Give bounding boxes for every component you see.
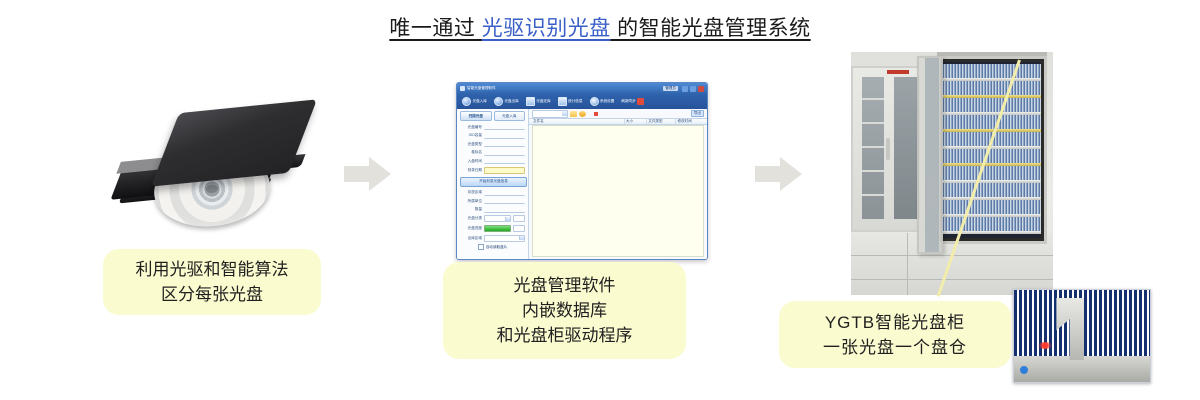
disc-shelf-row xyxy=(943,217,1041,231)
window-controls[interactable] xyxy=(682,86,704,92)
floor-line xyxy=(907,233,908,295)
cabinet-handle xyxy=(886,138,890,160)
field-row-area: 存放区域 xyxy=(460,190,525,196)
app-toolbar: 光盘入库 光盘出库 光盘还库 统计信息 系统设置 刷新同步 xyxy=(457,94,707,109)
stats-icon xyxy=(558,97,567,106)
callout-box-left: 利用光驱和智能算法 区分每张光盘 xyxy=(103,249,321,315)
arrow-head xyxy=(369,157,391,191)
field-row-org: 所属单位 xyxy=(460,198,525,204)
field-row-out-area: 出库区域 xyxy=(460,235,525,242)
process-arrow-1 xyxy=(344,157,392,191)
arrow-shaft xyxy=(755,166,781,182)
progress-bar xyxy=(484,225,511,232)
blue-indicator xyxy=(1020,366,1028,374)
field-label: 存放区域 xyxy=(460,190,482,195)
callout-middle-line2: 内嵌数据库 xyxy=(497,298,633,323)
callout-box-middle: 光盘管理软件 内嵌数据库 和光盘柜驱动程序 xyxy=(443,262,686,359)
category-select[interactable] xyxy=(484,215,511,222)
tab-label: 扫描光盘 xyxy=(469,114,483,118)
toolbar-label: 统计信息 xyxy=(568,99,582,104)
field-row-category: 光盘分类 xyxy=(460,215,525,222)
disc-shelf-row xyxy=(943,149,1041,163)
callout-middle-line3: 和光盘柜驱动程序 xyxy=(497,323,633,348)
disc-return-icon xyxy=(526,97,535,106)
file-table-header: 文件名 大小 文件类型 修改时间 xyxy=(529,118,707,125)
disc-bay-closeup-photo xyxy=(1013,289,1151,383)
field-row-iso-size: ISO容量 xyxy=(460,133,525,139)
disc-shelf-row xyxy=(943,115,1041,129)
disc-shelf-row xyxy=(943,64,1041,78)
gear-icon xyxy=(590,97,599,106)
field-label: ISO容量 xyxy=(460,133,482,138)
field-row-progress: 光盘进度 xyxy=(460,225,525,232)
optical-drive-photo xyxy=(112,104,312,222)
title-trail: 的智能光盘管理系统 xyxy=(611,17,811,40)
callout-right-text: YGTB智能光盘柜 一张光盘一个盘仓 xyxy=(823,310,967,360)
start-burn-button[interactable]: 开始刻录光盘信息 xyxy=(460,177,527,187)
cabinet-shelf xyxy=(862,122,884,124)
app-logo-icon xyxy=(460,86,465,91)
disc-shelf-row xyxy=(943,183,1041,197)
toolbar-button-disc-in[interactable]: 光盘入库 xyxy=(460,96,489,107)
refresh-icon xyxy=(637,98,644,105)
start-burn-label: 开始刻录光盘信息 xyxy=(479,179,508,183)
file-list-area[interactable] xyxy=(532,125,704,257)
storage-area-input[interactable] xyxy=(484,190,525,196)
toolbar-button-stats[interactable]: 统计信息 xyxy=(556,96,585,107)
toolbar-button-settings[interactable]: 系统设置 xyxy=(588,96,617,107)
field-label: 入盘时间 xyxy=(460,159,482,164)
window-user-area: 管理员 xyxy=(663,86,678,91)
field-row-volume: 卷标名 xyxy=(460,150,525,156)
toolbar-label: 系统设置 xyxy=(600,99,614,104)
column-filename: 文件名 xyxy=(532,119,625,124)
field-label: 刻录日期 xyxy=(460,168,482,173)
disc-shelf-row xyxy=(943,81,1041,95)
cabinet-label xyxy=(887,70,909,74)
organization-input[interactable] xyxy=(484,198,525,204)
field-row-disc-id: 光盘编号 xyxy=(460,124,525,130)
field-row-burn-date: 刻录日期 xyxy=(460,167,525,174)
cabinet-open-body xyxy=(937,56,1047,244)
insert-time-input[interactable] xyxy=(484,158,525,164)
disc-id-input[interactable] xyxy=(484,124,525,130)
new-category-button[interactable] xyxy=(513,215,525,222)
cabinet-interior xyxy=(943,62,1041,238)
disc-shelf-row xyxy=(943,200,1041,214)
disc-shelf-row xyxy=(943,166,1041,180)
field-row-insert-time: 入盘时间 xyxy=(460,158,525,164)
export-label: 导出 xyxy=(691,110,704,117)
callout-left-line2: 区分每张光盘 xyxy=(136,282,289,307)
folder-icon[interactable] xyxy=(570,111,577,117)
window-titlebar: 智能光盘管理软件 管理员 xyxy=(457,83,707,94)
maximize-icon[interactable] xyxy=(690,86,696,92)
progress-value xyxy=(513,225,525,232)
field-row-disc-type: 光盘类型 xyxy=(460,141,525,147)
auto-read-row[interactable]: 自动读取盘片 xyxy=(460,244,525,250)
field-label: 光盘进度 xyxy=(460,226,482,231)
software-window: 智能光盘管理软件 管理员 光盘入库 光盘出库 光盘还库 xyxy=(456,82,708,260)
title-highlight: 光驱识别光盘 xyxy=(482,17,611,40)
callout-middle-text: 光盘管理软件 内嵌数据库 和光盘柜驱动程序 xyxy=(497,273,633,348)
file-panel: 导出 文件名 大小 文件类型 修改时间 xyxy=(529,109,707,259)
arrow-head xyxy=(780,157,802,191)
page-title: 唯一通过 光驱识别光盘 的智能光盘管理系统 xyxy=(0,14,1200,44)
burn-date-input[interactable] xyxy=(484,167,525,174)
refresh-icon[interactable] xyxy=(579,111,586,117)
field-label: 卷标名 xyxy=(460,150,482,155)
toolbar-label: 光盘还库 xyxy=(536,99,550,104)
disc-shelf-row xyxy=(943,98,1041,112)
field-label: 光盘类型 xyxy=(460,142,482,147)
cabinet-open-door[interactable] xyxy=(917,56,943,254)
callout-middle-line1: 光盘管理软件 xyxy=(497,273,633,298)
column-filetype: 文件类型 xyxy=(647,119,676,124)
drive-lid xyxy=(151,99,317,186)
tab-disc-in[interactable]: 光盘入库 xyxy=(494,111,526,121)
field-label: 数量 xyxy=(460,207,482,212)
cabinet-closed-left xyxy=(851,66,927,232)
close-icon[interactable] xyxy=(698,86,704,92)
out-area-select[interactable] xyxy=(484,235,525,242)
arrow-shaft xyxy=(344,166,370,182)
disc-out-icon xyxy=(494,97,503,106)
field-label: 出库区域 xyxy=(460,236,482,241)
title-lead: 唯一通过 xyxy=(389,17,481,40)
callout-right-line2: 一张光盘一个盘仓 xyxy=(823,335,967,360)
form-panel: 扫描光盘 光盘入库 光盘编号 ISO容量 光盘类型 xyxy=(457,109,529,259)
red-led-indicator xyxy=(1038,342,1052,349)
callout-right-line1: YGTB智能光盘柜 xyxy=(823,310,967,335)
export-button[interactable]: 导出 xyxy=(691,110,704,117)
auto-read-label: 自动读取盘片 xyxy=(486,245,508,250)
cabinet-shelf xyxy=(862,98,884,100)
app-body: 扫描光盘 光盘入库 光盘编号 ISO容量 光盘类型 xyxy=(457,109,707,259)
callout-left-text: 利用光驱和智能算法 区分每张光盘 xyxy=(136,257,289,307)
volume-name-input[interactable] xyxy=(484,150,525,156)
tab-label: 光盘入库 xyxy=(502,114,516,118)
field-label: 光盘分类 xyxy=(460,216,482,221)
stop-icon[interactable] xyxy=(594,112,598,116)
cabinet-shelf xyxy=(862,194,884,196)
process-arrow-2 xyxy=(755,157,803,191)
callout-box-right: YGTB智能光盘柜 一张光盘一个盘仓 xyxy=(779,301,1011,368)
minimize-icon[interactable] xyxy=(682,86,688,92)
toolbar-label: 光盘入库 xyxy=(473,99,487,104)
iso-size-input[interactable] xyxy=(484,133,525,139)
toolbar-button-refresh[interactable]: 刷新同步 xyxy=(619,97,646,106)
field-row-count: 数量 xyxy=(460,207,525,213)
status-bar: 就绪 / 已连接 xyxy=(457,259,707,260)
toolbar-label: 刷新同步 xyxy=(621,99,635,104)
slide-canvas: 唯一通过 光驱识别光盘 的智能光盘管理系统 智能光盘管理软件 管理员 xyxy=(0,0,1200,400)
toolbar-button-disc-return[interactable]: 光盘还库 xyxy=(524,96,553,107)
file-toolbar: 导出 xyxy=(529,109,707,118)
auto-read-checkbox[interactable] xyxy=(478,244,484,250)
tab-scan-disc[interactable]: 扫描光盘 xyxy=(460,111,492,121)
disc-type-input[interactable] xyxy=(484,141,525,147)
floor-line xyxy=(851,279,1053,280)
user-label: 管理员 xyxy=(663,86,678,91)
form-tabs: 扫描光盘 光盘入库 xyxy=(460,111,525,121)
toolbar-button-disc-out[interactable]: 光盘出库 xyxy=(492,96,521,107)
field-label: 光盘编号 xyxy=(460,125,482,130)
cabinet-shelf xyxy=(862,170,884,172)
window-title-text: 智能光盘管理软件 xyxy=(467,86,496,91)
callout-left-line1: 利用光驱和智能算法 xyxy=(136,257,289,282)
field-label: 所属单位 xyxy=(460,199,482,204)
disc-in-icon xyxy=(462,97,471,106)
toolbar-label: 光盘出库 xyxy=(504,99,518,104)
cabinet-shelf xyxy=(862,146,884,148)
column-size: 大小 xyxy=(625,119,647,124)
path-select[interactable] xyxy=(532,110,568,118)
column-modified: 修改时间 xyxy=(676,119,704,124)
quantity-input[interactable] xyxy=(484,207,525,213)
